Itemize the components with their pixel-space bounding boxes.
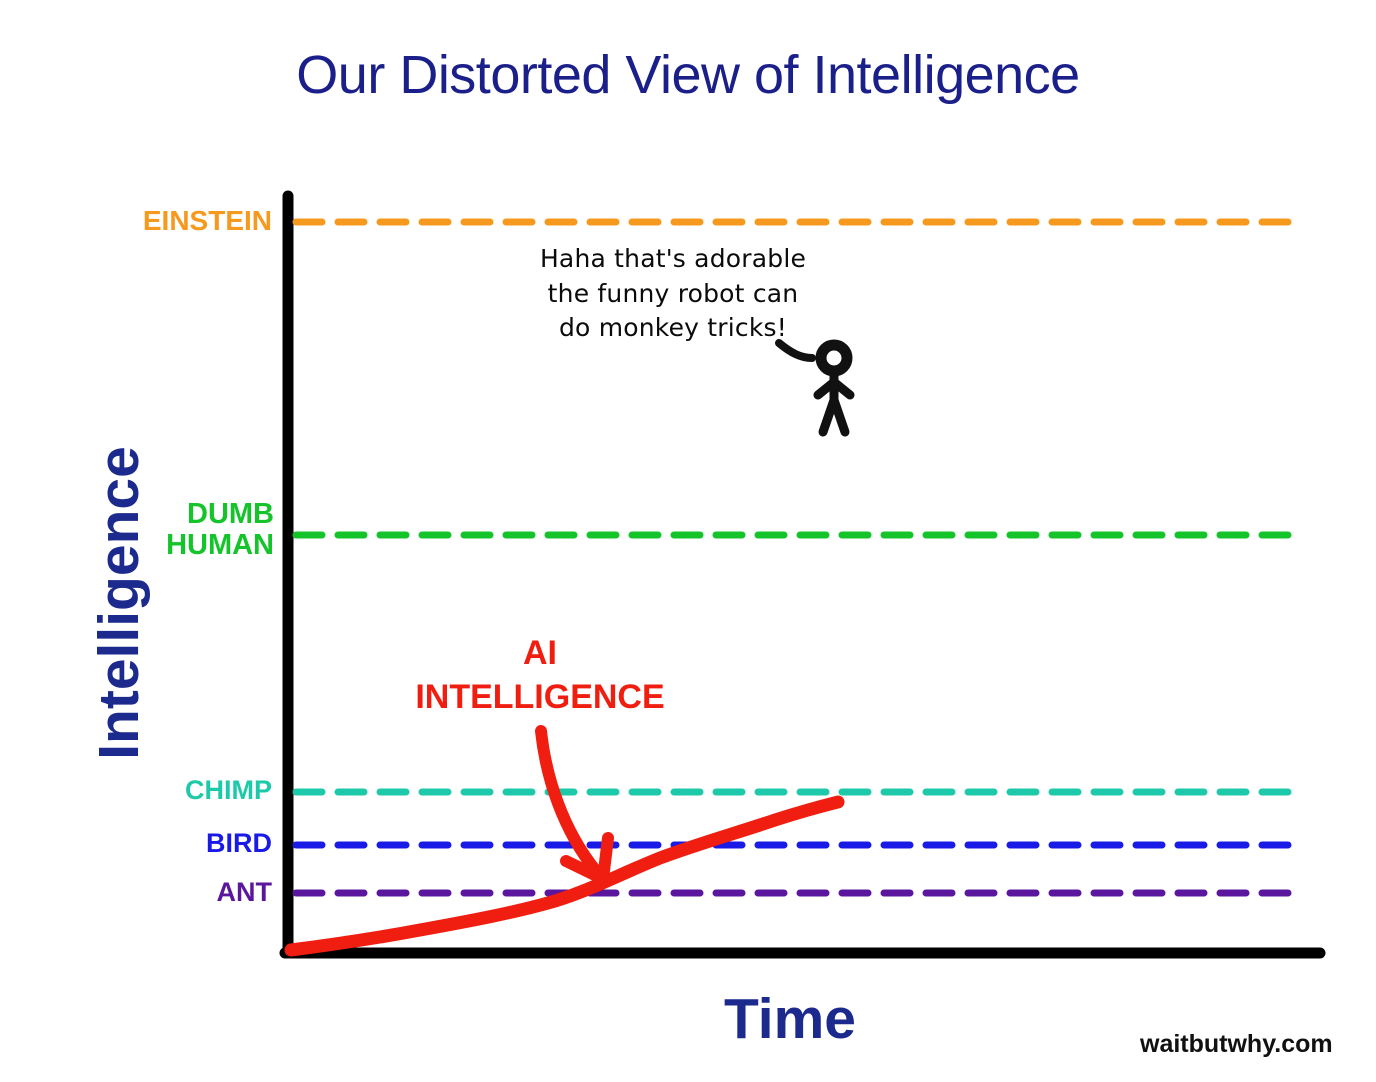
stick-figure-legs xyxy=(823,400,845,432)
speech-tail-icon xyxy=(779,343,812,358)
infographic-canvas: Our Distorted View of Intelligence Intel… xyxy=(0,0,1376,1082)
stick-figure-icon xyxy=(818,345,850,432)
plot-graphics xyxy=(0,0,1376,1082)
ai-annotation-arrow xyxy=(541,731,596,871)
stick-figure-head xyxy=(821,345,847,371)
